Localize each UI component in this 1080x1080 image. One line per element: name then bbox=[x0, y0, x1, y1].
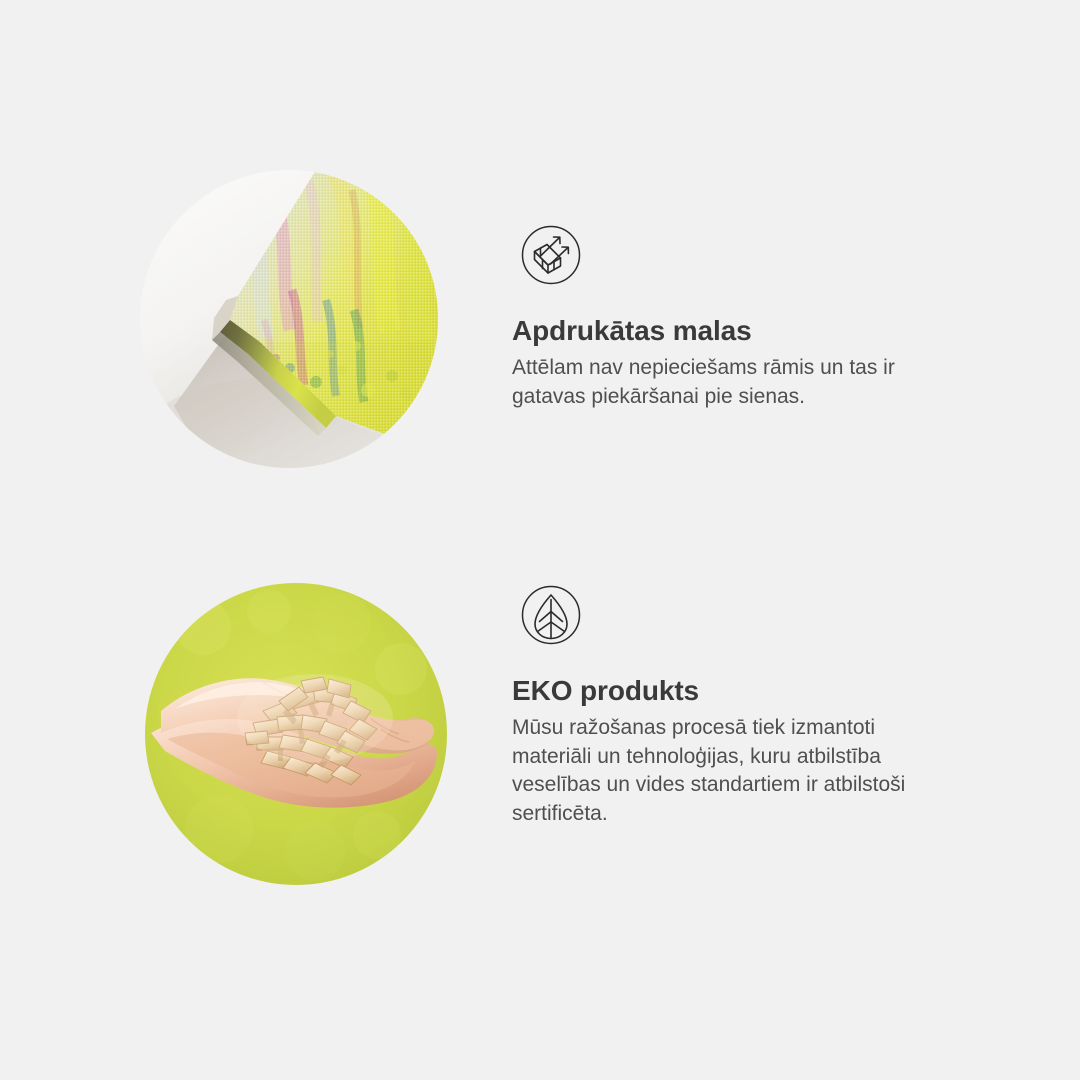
feature-text-printed-edges: Apdrukātas malas Attēlam nav nepieciešam… bbox=[512, 218, 1012, 411]
feature-title: EKO produkts bbox=[512, 674, 1012, 708]
feature-block-printed-edges: Apdrukātas malas Attēlam nav nepieciešam… bbox=[0, 160, 1080, 520]
canvas-print-photo bbox=[140, 170, 438, 468]
feature-image-eko-product bbox=[145, 583, 447, 885]
feature-title: Apdrukātas malas bbox=[512, 314, 1012, 348]
feature-description: Mūsu ražošanas procesā tiek izmantoti ma… bbox=[512, 714, 994, 828]
feature-image-printed-edges bbox=[140, 170, 438, 468]
leaf-icon bbox=[514, 578, 588, 652]
feature-panel: Apdrukātas malas Attēlam nav nepieciešam… bbox=[0, 0, 1080, 1080]
wood-chips-photo bbox=[145, 583, 447, 885]
feature-block-eko-product: EKO produkts Mūsu ražošanas procesā tiek… bbox=[0, 570, 1080, 910]
feature-description: Attēlam nav nepieciešams rāmis un tas ir… bbox=[512, 354, 994, 411]
printed-edges-icon bbox=[514, 218, 588, 292]
feature-text-eko-product: EKO produkts Mūsu ražošanas procesā tiek… bbox=[512, 578, 1012, 828]
